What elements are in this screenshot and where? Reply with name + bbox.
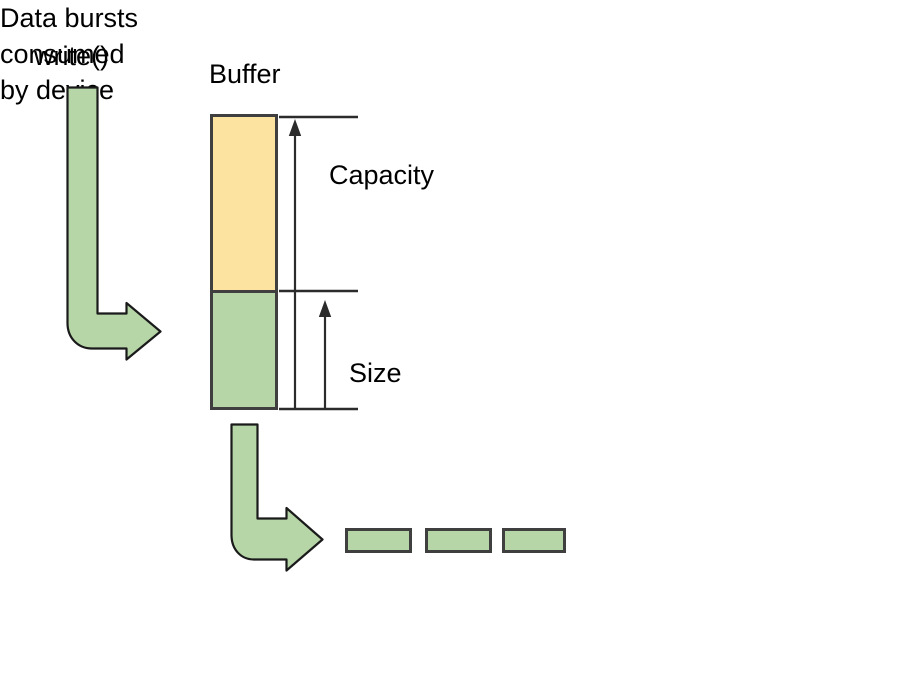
write-flow-arrow [68,88,161,360]
diagram-canvas: write() Buffer Capacity Size Data bursts… [0,0,922,674]
size-dimension-arrow [319,300,331,409]
data-burst-block [504,530,565,552]
data-burst-block [347,530,411,552]
drain-flow-arrow [232,425,323,571]
buffer-used-segment [212,292,277,409]
diagram-shapes-layer [0,0,922,674]
capacity-dimension-arrow [289,119,301,409]
buffer-free-segment [212,116,277,292]
data-burst-block [427,530,491,552]
